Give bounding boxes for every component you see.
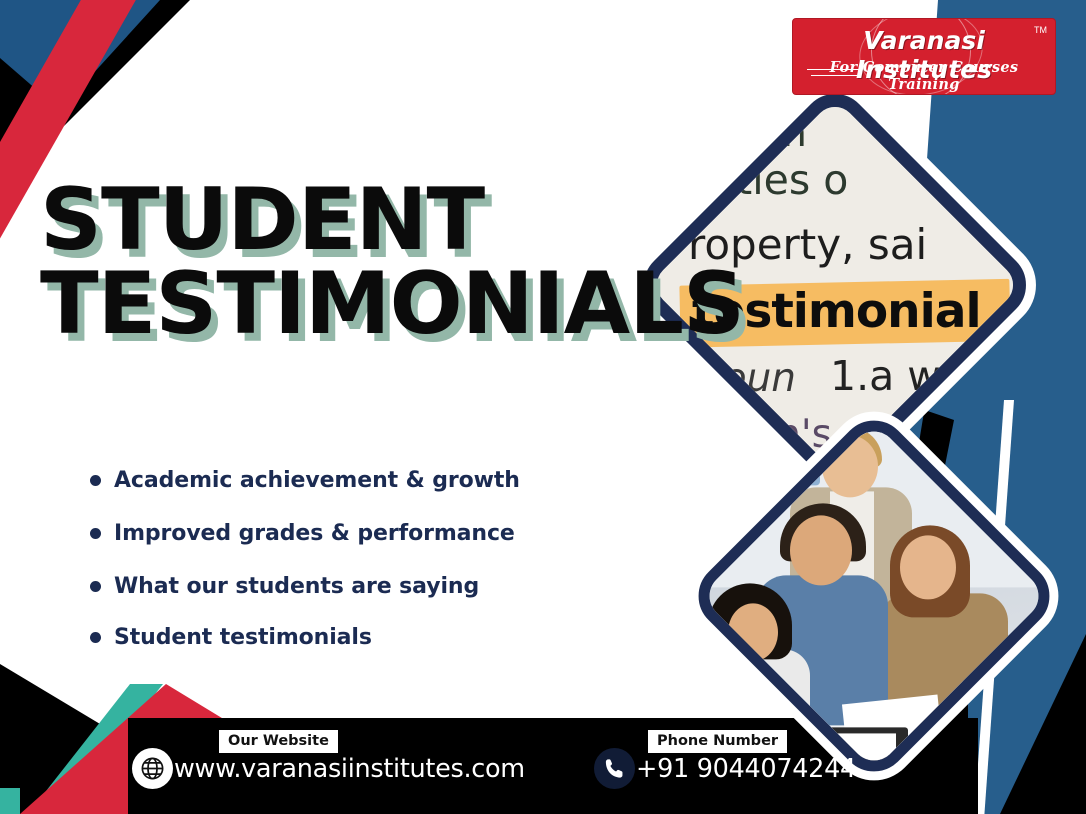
bullet-dot-icon	[90, 581, 101, 592]
bottom-left-teal-edge	[0, 788, 20, 814]
bullet-dot-icon	[90, 528, 101, 539]
page-title: STUDENT TESTIMONIALS	[40, 178, 744, 347]
dictionary-text-line-5: noun	[698, 356, 796, 401]
bullet-dot-icon	[90, 475, 101, 486]
list-item: Academic achievement & growth	[90, 468, 610, 493]
logo-tagline: For Computer Courses Training	[793, 59, 1055, 93]
brand-logo[interactable]: Varanasi Institutes TM For Computer Cour…	[792, 18, 1056, 95]
list-item-label: What our students are saying	[114, 574, 479, 599]
website-contact[interactable]: www.varanasiinstitutes.com	[132, 748, 525, 789]
list-item: Student testimonials	[90, 625, 610, 650]
page-title-line-2: TESTIMONIALS	[40, 262, 744, 346]
bullet-dot-icon	[90, 632, 101, 643]
list-item-label: Student testimonials	[114, 625, 372, 650]
phone-value: +91 9044074244	[636, 754, 856, 784]
feature-list: Academic achievement & growth Improved g…	[90, 468, 610, 678]
list-item-label: Academic achievement & growth	[114, 468, 520, 493]
globe-icon	[132, 748, 173, 789]
poster-canvas: Varanasi Institutes TM For Computer Cour…	[0, 0, 1086, 814]
student-2-head	[790, 515, 852, 585]
page-title-line-1: STUDENT	[40, 178, 744, 262]
phone-icon	[594, 748, 635, 789]
student-4-head	[728, 603, 778, 661]
logo-trademark-icon: TM	[1034, 25, 1047, 35]
dictionary-text-line-1: m	[768, 110, 807, 156]
list-item-label: Improved grades & performance	[114, 521, 515, 546]
website-value: www.varanasiinstitutes.com	[174, 754, 525, 784]
phone-label: Phone Number	[648, 730, 787, 753]
list-item: Improved grades & performance	[90, 521, 610, 546]
list-item: What our students are saying	[90, 574, 610, 599]
website-label: Our Website	[219, 730, 338, 753]
phone-contact[interactable]: +91 9044074244	[594, 748, 856, 789]
student-3-head	[900, 535, 956, 599]
